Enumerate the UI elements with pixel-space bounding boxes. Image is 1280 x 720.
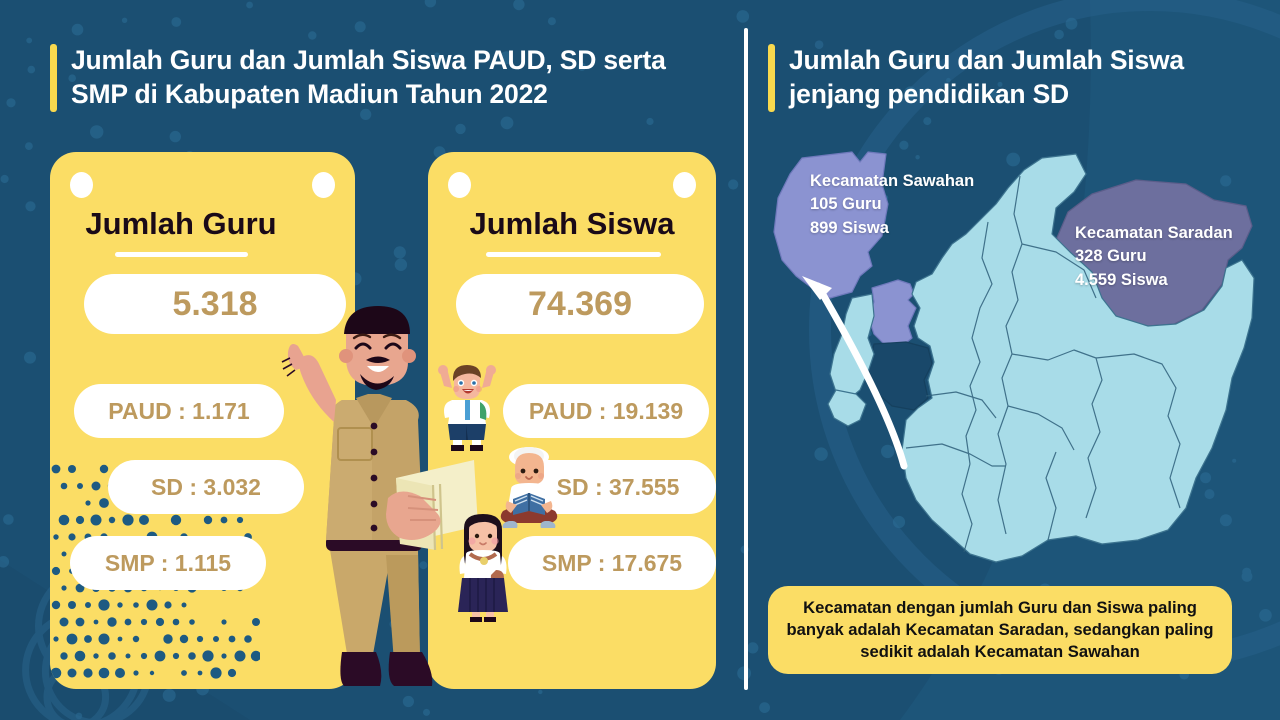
siswa-smp-row: SMP : 17.675 xyxy=(508,536,716,590)
siswa-total-value: 74.369 xyxy=(456,274,704,334)
map-region-sawahan xyxy=(868,280,916,346)
card-heading-siswa: Jumlah Siswa xyxy=(428,206,716,242)
map-region-west-tail xyxy=(828,390,866,426)
map-label-sawahan-guru: 105 Guru xyxy=(810,193,974,216)
right-panel-title: Jumlah Guru dan Jumlah Siswa jenjang pen… xyxy=(789,44,1228,112)
map-caption-box: Kecamatan dengan jumlah Guru dan Siswa p… xyxy=(768,586,1232,674)
student-boy-cheering-illustration xyxy=(434,362,500,452)
guru-paud-row: PAUD : 1.171 xyxy=(74,384,284,438)
student-girl-illustration xyxy=(452,512,514,622)
map-label-saradan-name: Kecamatan Saradan xyxy=(1075,222,1233,245)
map-label-saradan-guru: 328 Guru xyxy=(1075,245,1233,268)
guru-smp-row: SMP : 1.115 xyxy=(70,536,266,590)
map-label-saradan-siswa: 4.559 Siswa xyxy=(1075,269,1233,292)
map-label-sawahan-name: Kecamatan Sawahan xyxy=(810,170,974,193)
map-label-sawahan-siswa: 899 Siswa xyxy=(810,217,974,240)
map-label-sawahan: Kecamatan Sawahan 105 Guru 899 Siswa xyxy=(810,170,974,240)
map-label-saradan: Kecamatan Saradan 328 Guru 4.559 Siswa xyxy=(1075,222,1233,292)
card-heading-underline xyxy=(486,252,661,257)
map-caption-text: Kecamatan dengan jumlah Guru dan Siswa p… xyxy=(782,597,1218,663)
left-panel: Jumlah Guru dan Jumlah Siswa PAUD, SD se… xyxy=(0,0,745,720)
panel-divider xyxy=(744,28,748,690)
left-panel-title-block: Jumlah Guru dan Jumlah Siswa PAUD, SD se… xyxy=(50,44,710,112)
card-punch-hole-right xyxy=(312,172,335,198)
card-punch-hole-left xyxy=(448,172,471,198)
title-accent-bar xyxy=(50,44,57,112)
card-heading-guru: Jumlah Guru xyxy=(50,206,312,242)
card-heading-underline xyxy=(115,252,248,257)
card-punch-hole-left xyxy=(70,172,93,198)
card-punch-hole-right xyxy=(673,172,696,198)
siswa-paud-row: PAUD : 19.139 xyxy=(503,384,709,438)
title-accent-bar xyxy=(768,44,775,112)
right-panel-title-block: Jumlah Guru dan Jumlah Siswa jenjang pen… xyxy=(768,44,1228,112)
left-panel-title: Jumlah Guru dan Jumlah Siswa PAUD, SD se… xyxy=(71,44,710,112)
